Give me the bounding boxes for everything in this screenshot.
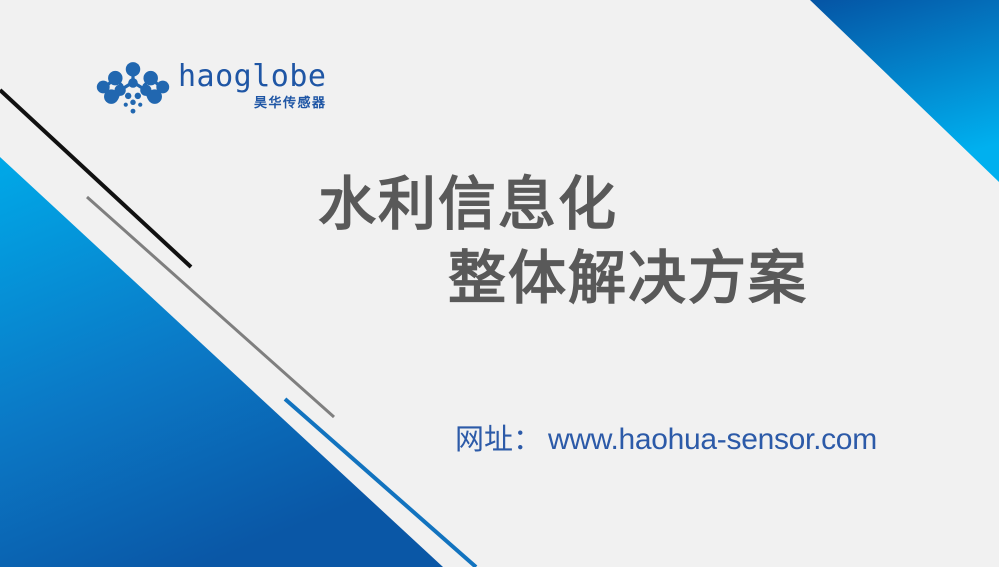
gray-diagonal-line xyxy=(87,197,334,417)
logo-wordmark: haoglobe xyxy=(178,62,327,92)
blue-diagonal-line xyxy=(285,399,476,567)
website-url-label: 网址： xyxy=(455,420,542,460)
website-url: 网址： www.haohua-sensor.com xyxy=(455,420,877,460)
presentation-slide: haoglobe 昊华传感器 水利信息化 整体解决方案 网址： www.haoh… xyxy=(0,0,999,567)
haoglobe-network-dots-logo-icon xyxy=(96,58,170,116)
company-logo: haoglobe 昊华传感器 xyxy=(96,58,327,116)
title-line-1: 水利信息化 xyxy=(300,168,920,242)
website-url-value[interactable]: www.haohua-sensor.com xyxy=(548,420,877,460)
logo-subtitle: 昊华传感器 xyxy=(254,95,327,111)
black-diagonal-line xyxy=(0,90,191,267)
title-line-2: 整体解决方案 xyxy=(300,242,920,316)
right-blue-triangle xyxy=(810,0,999,182)
logo-text-block: haoglobe 昊华传感器 xyxy=(178,58,327,111)
page-title: 水利信息化 整体解决方案 xyxy=(300,168,920,316)
